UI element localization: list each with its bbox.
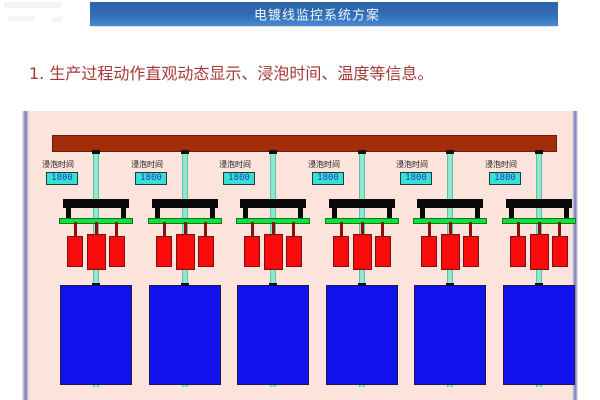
plating-tank[interactable] [237,285,309,385]
plating-tank[interactable] [326,285,398,385]
plating-tank[interactable] [149,285,221,385]
plating-tank[interactable] [60,285,132,385]
work-piece-right [552,236,568,267]
immersion-time-label: 浸泡时间 [485,160,517,169]
work-piece-left [510,236,526,267]
immersion-time-value[interactable]: 1800 [489,172,521,185]
work-piece-center [530,234,549,270]
hoist-leg-right [564,208,569,218]
station-6[interactable]: 浸泡时间 1800 [0,0,600,289]
plating-tank[interactable] [414,285,486,385]
hoist-carriage [506,199,572,208]
shaft-top-cap [535,150,543,154]
hoist-leg-left [509,208,514,218]
plating-tank[interactable] [503,285,575,385]
